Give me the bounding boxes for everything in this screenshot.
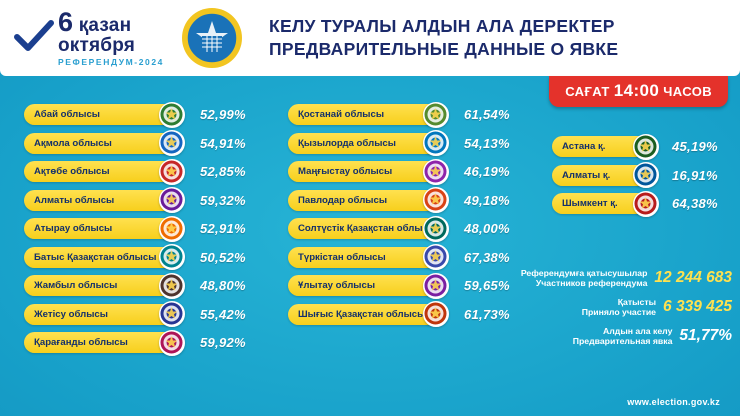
abai-region-emblem bbox=[159, 102, 185, 128]
region-turnout-value: 50,52% bbox=[200, 250, 246, 265]
region-turnout-value: 52,85% bbox=[200, 164, 246, 179]
region-name: Ақмола облысы bbox=[34, 138, 112, 149]
aktobe-region-emblem bbox=[159, 159, 185, 185]
north-kazakhstan-region-emblem bbox=[423, 216, 449, 242]
zhetysu-region-emblem bbox=[159, 301, 185, 327]
region-name: Атырау облысы bbox=[34, 223, 112, 234]
east-kazakhstan-region-emblem bbox=[423, 301, 449, 327]
total-label-kz: Қатысты bbox=[582, 297, 656, 307]
region-turnout-value: 61,54% bbox=[464, 107, 510, 122]
total-label-ru: Приняло участие bbox=[582, 307, 656, 317]
zhambyl-region-emblem bbox=[159, 273, 185, 299]
kazakhstan-election-commission-emblem bbox=[181, 7, 243, 69]
region-name: Жетісу облысы bbox=[34, 309, 108, 320]
region-turnout-value: 16,91% bbox=[672, 168, 718, 183]
logo-subtitle: РЕФЕРЕНДУМ-2024 bbox=[58, 58, 164, 67]
region-name: Алматы облысы bbox=[34, 195, 114, 206]
region-pill[interactable]: Қызылорда облысы bbox=[288, 133, 440, 154]
region-row: Шымкент қ.64,38% bbox=[552, 193, 728, 214]
region-turnout-value: 59,65% bbox=[464, 278, 510, 293]
total-label: Алдын ала келуПредварительная явка bbox=[573, 326, 673, 346]
pavlodar-region-emblem bbox=[423, 187, 449, 213]
total-label: Референдумға қатысушыларУчастников рефер… bbox=[521, 268, 648, 288]
region-row: Қарағанды облысы59,92% bbox=[24, 332, 274, 353]
region-turnout-value: 49,18% bbox=[464, 193, 510, 208]
kostanay-region-emblem bbox=[423, 102, 449, 128]
total-label-kz: Референдумға қатысушылар bbox=[521, 268, 648, 278]
region-column-2: Қостанай облысы61,54%Қызылорда облысы54,… bbox=[288, 104, 538, 332]
city-column-3: Астана қ.45,19%Алматы қ.16,91%Шымкент қ.… bbox=[552, 136, 728, 222]
region-name: Павлодар облысы bbox=[298, 195, 387, 206]
region-name: Маңғыстау облысы bbox=[298, 166, 392, 177]
region-name: Қарағанды облысы bbox=[34, 337, 128, 348]
header-titles: КЕЛУ ТУРАЛЫ АЛДЫН АЛА ДЕРЕКТЕР ПРЕДВАРИТ… bbox=[269, 15, 618, 61]
referendum-logo: 6 қазан октября РЕФЕРЕНДУМ-2024 bbox=[0, 0, 175, 76]
region-turnout-value: 48,80% bbox=[200, 278, 246, 293]
region-pill[interactable]: Жетісу облысы bbox=[24, 304, 176, 325]
total-value: 6 339 425 bbox=[663, 298, 732, 316]
website-url: www.election.gov.kz bbox=[627, 397, 720, 407]
total-value: 12 244 683 bbox=[654, 269, 732, 287]
region-turnout-value: 55,42% bbox=[200, 307, 246, 322]
total-value: 51,77% bbox=[679, 327, 732, 345]
region-name: Батыс Қазақстан облысы bbox=[34, 252, 156, 263]
region-turnout-value: 46,19% bbox=[464, 164, 510, 179]
title-russian: ПРЕДВАРИТЕЛЬНЫЕ ДАННЫЕ О ЯВКЕ bbox=[269, 38, 618, 61]
time-badge: САҒАТ 14:00 ЧАСОВ bbox=[549, 76, 728, 107]
clock-suffix: ЧАСОВ bbox=[663, 84, 712, 99]
region-name: Қызылорда облысы bbox=[298, 138, 396, 149]
total-label-ru: Участников референдума bbox=[521, 278, 648, 288]
region-name: Түркістан облысы bbox=[298, 252, 386, 263]
region-pill[interactable]: Ақтөбе облысы bbox=[24, 161, 176, 182]
west-kazakhstan-region-emblem bbox=[159, 244, 185, 270]
logo-day: 6 bbox=[58, 7, 73, 37]
region-row: Алматы қ.16,91% bbox=[552, 165, 728, 186]
region-pill[interactable]: Түркістан облысы bbox=[288, 247, 440, 268]
region-column-1: Абай облысы52,99%Ақмола облысы54,91%Ақтө… bbox=[24, 104, 274, 361]
region-turnout-value: 54,91% bbox=[200, 136, 246, 151]
region-name: Астана қ. bbox=[562, 141, 605, 152]
region-pill[interactable]: Ұлытау облысы bbox=[288, 275, 440, 296]
region-turnout-value: 59,92% bbox=[200, 335, 246, 350]
region-row: Жетісу облысы55,42% bbox=[24, 304, 274, 325]
check-mark-icon bbox=[14, 18, 54, 58]
region-pill[interactable]: Шығыс Қазақстан облысы bbox=[288, 304, 440, 325]
region-pill[interactable]: Атырау облысы bbox=[24, 218, 176, 239]
region-name: Ақтөбе облысы bbox=[34, 166, 110, 177]
total-label: ҚатыстыПриняло участие bbox=[582, 297, 656, 317]
region-pill[interactable]: Батыс Қазақстан облысы bbox=[24, 247, 176, 268]
total-row: Алдын ала келуПредварительная явка51,77% bbox=[552, 326, 732, 346]
region-pill[interactable]: Алматы қ. bbox=[552, 165, 650, 186]
region-turnout-value: 64,38% bbox=[672, 196, 718, 211]
almaty-region-emblem bbox=[159, 187, 185, 213]
region-name: Жамбыл облысы bbox=[34, 280, 117, 291]
region-row: Батыс Қазақстан облысы50,52% bbox=[24, 247, 274, 268]
shymkent-city-emblem bbox=[633, 191, 659, 217]
region-row: Павлодар облысы49,18% bbox=[288, 190, 538, 211]
atyrau-region-emblem bbox=[159, 216, 185, 242]
region-row: Солтүстік Қазақстан облысы48,00% bbox=[288, 218, 538, 239]
region-name: Абай облысы bbox=[34, 109, 100, 120]
totals-block: Референдумға қатысушыларУчастников рефер… bbox=[552, 268, 732, 355]
region-pill[interactable]: Астана қ. bbox=[552, 136, 650, 157]
region-name: Ұлытау облысы bbox=[298, 280, 375, 291]
turkistan-region-emblem bbox=[423, 244, 449, 270]
total-label-ru: Предварительная явка bbox=[573, 336, 673, 346]
region-pill[interactable]: Солтүстік Қазақстан облысы bbox=[288, 218, 440, 239]
karaganda-region-emblem bbox=[159, 330, 185, 356]
region-pill[interactable]: Жамбыл облысы bbox=[24, 275, 176, 296]
region-turnout-value: 45,19% bbox=[672, 139, 718, 154]
total-label-kz: Алдын ала келу bbox=[573, 326, 673, 336]
region-row: Қызылорда облысы54,13% bbox=[288, 133, 538, 154]
region-row: Маңғыстау облысы46,19% bbox=[288, 161, 538, 182]
region-row: Алматы облысы59,32% bbox=[24, 190, 274, 211]
region-pill[interactable]: Алматы облысы bbox=[24, 190, 176, 211]
region-turnout-value: 48,00% bbox=[464, 221, 510, 236]
region-row: Абай облысы52,99% bbox=[24, 104, 274, 125]
region-row: Атырау облысы52,91% bbox=[24, 218, 274, 239]
region-row: Түркістан облысы67,38% bbox=[288, 247, 538, 268]
astana-city-emblem bbox=[633, 134, 659, 160]
clock-prefix: САҒАТ bbox=[565, 84, 610, 99]
region-row: Қостанай облысы61,54% bbox=[288, 104, 538, 125]
region-row: Астана қ.45,19% bbox=[552, 136, 728, 157]
region-row: Жамбыл облысы48,80% bbox=[24, 275, 274, 296]
region-row: Шығыс Қазақстан облысы61,73% bbox=[288, 304, 538, 325]
region-pill[interactable]: Павлодар облысы bbox=[288, 190, 440, 211]
region-pill[interactable]: Қарағанды облысы bbox=[24, 332, 176, 353]
header-band: 6 қазан октября РЕФЕРЕНДУМ-2024 КЕЛУ ТУР… bbox=[0, 0, 740, 76]
clock-time: 14:00 bbox=[614, 81, 659, 100]
region-pill[interactable]: Қостанай облысы bbox=[288, 104, 440, 125]
region-name: Қостанай облысы bbox=[298, 109, 384, 120]
region-turnout-value: 52,99% bbox=[200, 107, 246, 122]
region-name: Шығыс Қазақстан облысы bbox=[298, 309, 425, 320]
region-pill[interactable]: Абай облысы bbox=[24, 104, 176, 125]
mangystau-region-emblem bbox=[423, 159, 449, 185]
logo-month-kz: 6 қазан bbox=[58, 9, 164, 36]
title-kazakh: КЕЛУ ТУРАЛЫ АЛДЫН АЛА ДЕРЕКТЕР bbox=[269, 15, 618, 38]
region-pill[interactable]: Маңғыстау облысы bbox=[288, 161, 440, 182]
total-row: Референдумға қатысушыларУчастников рефер… bbox=[552, 268, 732, 288]
region-row: Ақмола облысы54,91% bbox=[24, 133, 274, 154]
ulytau-region-emblem bbox=[423, 273, 449, 299]
region-turnout-value: 67,38% bbox=[464, 250, 510, 265]
region-turnout-value: 54,13% bbox=[464, 136, 510, 151]
region-turnout-value: 59,32% bbox=[200, 193, 246, 208]
total-row: ҚатыстыПриняло участие6 339 425 bbox=[552, 297, 732, 317]
logo-text: 6 қазан октября РЕФЕРЕНДУМ-2024 bbox=[58, 9, 164, 67]
region-pill[interactable]: Шымкент қ. bbox=[552, 193, 650, 214]
region-name: Алматы қ. bbox=[562, 170, 610, 181]
akmola-region-emblem bbox=[159, 130, 185, 156]
region-name: Шымкент қ. bbox=[562, 198, 618, 209]
infographic-page: 6 қазан октября РЕФЕРЕНДУМ-2024 КЕЛУ ТУР… bbox=[0, 0, 740, 416]
kyzylorda-region-emblem bbox=[423, 130, 449, 156]
almaty-city-emblem bbox=[633, 162, 659, 188]
region-row: Ақтөбе облысы52,85% bbox=[24, 161, 274, 182]
region-turnout-value: 61,73% bbox=[464, 307, 510, 322]
region-turnout-value: 52,91% bbox=[200, 221, 246, 236]
region-name: Солтүстік Қазақстан облысы bbox=[298, 223, 436, 234]
region-row: Ұлытау облысы59,65% bbox=[288, 275, 538, 296]
logo-month-ru: октября bbox=[58, 36, 164, 55]
region-pill[interactable]: Ақмола облысы bbox=[24, 133, 176, 154]
